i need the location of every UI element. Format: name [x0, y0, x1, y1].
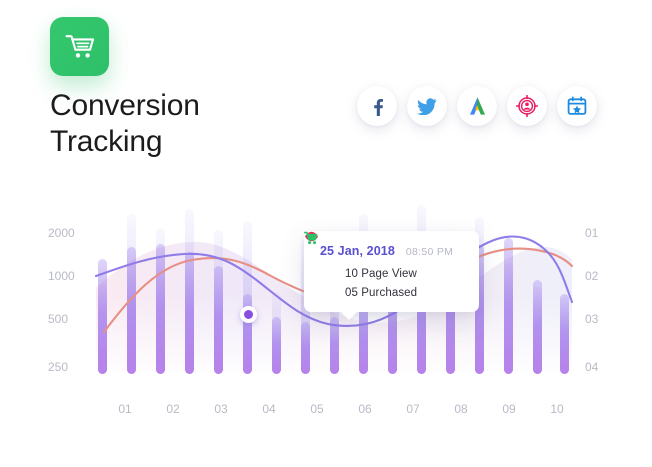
cart-icon	[320, 286, 334, 300]
shopping-cart-logo-badge	[50, 17, 109, 76]
tooltip-page-view-label: 10 Page View	[345, 268, 417, 280]
y-axis-right-tick-1: 02	[585, 269, 598, 283]
y-axis-left-tick-3: 250	[48, 360, 68, 374]
x-axis-tick-4: 05	[304, 402, 330, 416]
tooltip-header: 25 Jan, 2018 08:50 PM	[320, 244, 464, 258]
tooltip-row-purchased: 05 Purchased	[320, 286, 464, 300]
x-axis-tick-3: 04	[256, 402, 282, 416]
audience-target-icon	[516, 95, 538, 117]
x-axis-tick-6: 07	[400, 402, 426, 416]
social-channel-buttons	[357, 86, 597, 126]
tooltip-time: 08:50 PM	[406, 246, 453, 258]
y-axis-left-tick-0: 2000	[48, 226, 75, 240]
social-button-twitter[interactable]	[407, 86, 447, 126]
y-axis-right-tick-0: 01	[585, 226, 598, 240]
tooltip-purchased-label: 05 Purchased	[345, 287, 417, 299]
calendar-star-icon	[567, 96, 587, 116]
y-axis-left-tick-1: 1000	[48, 269, 75, 283]
marker-dot	[244, 310, 253, 319]
tooltip-date: 25 Jan, 2018	[320, 244, 395, 258]
google-ads-icon	[467, 96, 488, 116]
twitter-icon	[417, 98, 437, 115]
tooltip-row-page-view: 10 Page View	[320, 267, 464, 281]
x-axis-tick-5: 06	[352, 402, 378, 416]
chart-plot-area: 25 Jan, 2018 08:50 PM 10 Page View	[96, 200, 572, 374]
page-title: Conversion Tracking	[50, 88, 350, 160]
shopping-cart-icon	[65, 34, 95, 60]
x-axis-tick-0: 01	[112, 402, 138, 416]
y-axis-right-tick-2: 03	[585, 312, 598, 326]
y-axis-left-tick-2: 500	[48, 312, 68, 326]
chart-tooltip: 25 Jan, 2018 08:50 PM 10 Page View	[304, 231, 479, 312]
selected-point-purple-marker[interactable]	[240, 306, 257, 323]
conversion-chart: 2000 1000 500 250 01 02 03 04 01 02 03 0…	[0, 180, 652, 467]
x-axis-tick-2: 03	[208, 402, 234, 416]
social-button-calendar[interactable]	[557, 86, 597, 126]
conversion-tracking-page: Conversion Tracking	[0, 0, 652, 467]
facebook-icon	[368, 97, 387, 116]
x-axis-tick-1: 02	[160, 402, 186, 416]
eye-icon	[320, 267, 334, 281]
y-axis-right-tick-3: 04	[585, 360, 598, 374]
x-axis-tick-7: 08	[448, 402, 474, 416]
social-button-google-ads[interactable]	[457, 86, 497, 126]
social-button-facebook[interactable]	[357, 86, 397, 126]
x-axis-tick-9: 10	[544, 402, 570, 416]
x-axis-tick-8: 09	[496, 402, 522, 416]
social-button-audience-target[interactable]	[507, 86, 547, 126]
page-header: Conversion Tracking	[0, 0, 652, 180]
